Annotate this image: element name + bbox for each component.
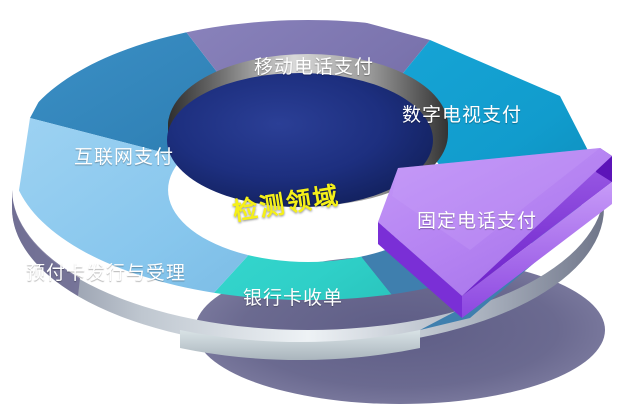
diagram-root: 移动电话支付 数字电视支付 固定电话支付 银行卡收单 预付卡发行与受理 互联网支… [0, 0, 617, 410]
donut-chart-graphic [0, 0, 617, 410]
